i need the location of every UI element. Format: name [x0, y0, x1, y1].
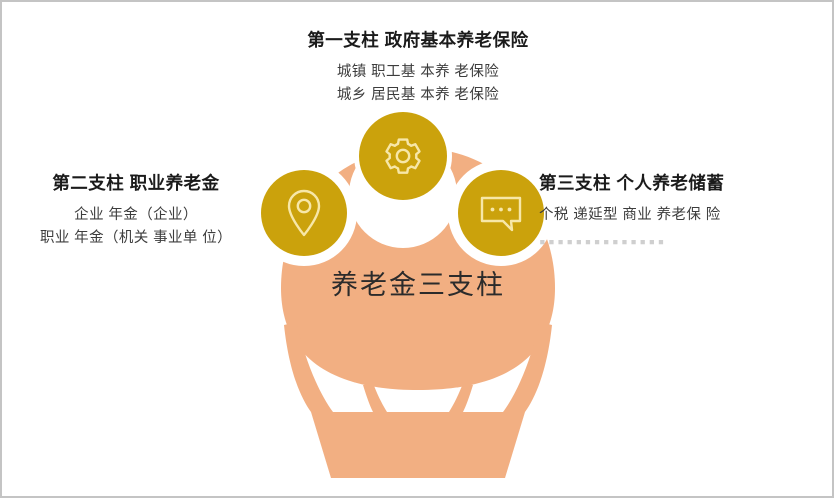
pillar-one-text: 第一支柱 政府基本养老保险 城镇 职工基 本养 老保险 城乡 居民基 本养 老保… [238, 27, 598, 108]
pillar-three-text: 第三支柱 个人养老储蓄 个税 递延型 商业 养老保 险 ▪▪▪▪▪▪▪▪▪▪▪▪… [539, 170, 819, 248]
balloon-basket [311, 412, 525, 478]
pillar-two-node[interactable] [261, 170, 347, 256]
gear-icon [381, 134, 425, 178]
pillar-two-line-1: 企业 年金（企业） [12, 204, 260, 227]
pillar-three-line-1: 个税 递延型 商业 养老保 险 [539, 204, 819, 227]
pillar-one-line-2: 城乡 居民基 本养 老保险 [238, 84, 598, 107]
pillar-one-title: 第一支柱 政府基本养老保险 [238, 27, 598, 52]
pillar-one-node[interactable] [359, 112, 447, 200]
balloon-center-label: 养老金三支柱 [243, 263, 593, 302]
pillar-one-line-1: 城镇 职工基 本养 老保险 [238, 61, 598, 84]
speech-bubble-icon [478, 192, 524, 234]
illustration-area: 养老金三支柱 [2, 2, 832, 496]
pillar-three-title: 第三支柱 个人养老储蓄 [539, 170, 819, 195]
diagram-canvas: 养老金三支柱 [0, 0, 834, 498]
pillar-two-text: 第二支柱 职业养老金 企业 年金（企业） 职业 年金（机关 事业单 位） [12, 170, 260, 251]
map-pin-icon [285, 189, 323, 237]
pillar-three-placeholder-dots: ▪▪▪▪▪▪▪▪▪▪▪▪▪▪ [539, 235, 819, 248]
pillar-three-node[interactable] [458, 170, 544, 256]
pillar-two-line-2: 职业 年金（机关 事业单 位） [12, 227, 260, 250]
pillar-two-title: 第二支柱 职业养老金 [12, 170, 260, 195]
